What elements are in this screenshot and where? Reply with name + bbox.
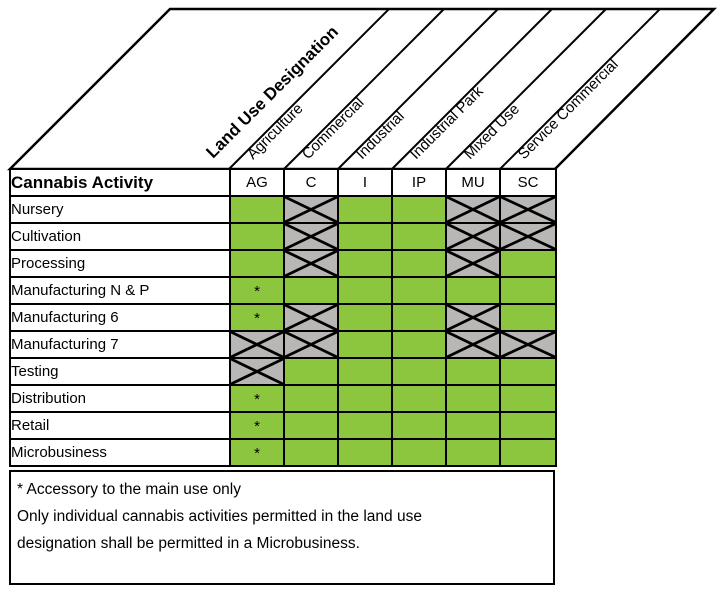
matrix-cell-testing-mu: [446, 358, 500, 385]
not-permitted-x-icon: [447, 305, 499, 330]
matrix-cell-manufacturing-7-sc: [500, 331, 556, 358]
accessory-use-asterisk: *: [254, 283, 260, 300]
matrix-cell-distribution-ip: [392, 385, 446, 412]
footnote-line-1: * Accessory to the main use only: [17, 478, 545, 502]
matrix-cell-microbusiness-ip: [392, 439, 446, 466]
table-row: Nursery: [10, 196, 556, 223]
matrix-cell-manufacturing-6-ip: [392, 304, 446, 331]
matrix-cell-processing-i: [338, 250, 392, 277]
matrix-cell-processing-ip: [392, 250, 446, 277]
matrix-cell-distribution-mu: [446, 385, 500, 412]
matrix-cell-microbusiness-c: [284, 439, 338, 466]
matrix-cell-retail-c: [284, 412, 338, 439]
matrix-cell-nursery-sc: [500, 196, 556, 223]
table-row: Manufacturing N & P*: [10, 277, 556, 304]
matrix-cell-testing-sc: [500, 358, 556, 385]
matrix-cell-processing-c: [284, 250, 338, 277]
matrix-cell-manufacturing-7-mu: [446, 331, 500, 358]
activity-label: Retail: [10, 412, 230, 439]
matrix-cell-nursery-i: [338, 196, 392, 223]
matrix-cell-retail-sc: [500, 412, 556, 439]
matrix-cell-distribution-sc: [500, 385, 556, 412]
not-permitted-x-icon: [447, 251, 499, 276]
not-permitted-x-icon: [285, 224, 337, 249]
matrix-cell-retail-i: [338, 412, 392, 439]
accessory-use-asterisk: *: [254, 445, 260, 462]
matrix-cell-microbusiness-sc: [500, 439, 556, 466]
matrix-cell-testing-ip: [392, 358, 446, 385]
matrix-cell-manufacturing-7-c: [284, 331, 338, 358]
activity-label: Manufacturing 7: [10, 331, 230, 358]
matrix-cell-nursery-c: [284, 196, 338, 223]
header-code-i: I: [338, 169, 392, 196]
matrix-cell-distribution-c: [284, 385, 338, 412]
not-permitted-x-icon: [285, 197, 337, 222]
not-permitted-x-icon: [501, 197, 555, 222]
matrix-cell-distribution-i: [338, 385, 392, 412]
matrix-cell-nursery-mu: [446, 196, 500, 223]
activity-label: Manufacturing N & P: [10, 277, 230, 304]
not-permitted-x-icon: [231, 359, 283, 384]
matrix-cell-retail-ip: [392, 412, 446, 439]
activity-label: Manufacturing 6: [10, 304, 230, 331]
activity-label: Processing: [10, 250, 230, 277]
activity-label: Distribution: [10, 385, 230, 412]
matrix-body: NurseryCultivationProcessingManufacturin…: [10, 196, 556, 466]
header-cannabis-activity: Cannabis Activity: [10, 169, 230, 196]
matrix-cell-manufacturing-6-i: [338, 304, 392, 331]
diagonal-header-banner: Land Use Designation Agriculture Commerc…: [0, 0, 721, 176]
matrix-cell-manufacturing-n-p-ip: [392, 277, 446, 304]
matrix-cell-manufacturing-6-c: [284, 304, 338, 331]
matrix-cell-testing-ag: [230, 358, 284, 385]
table-row: Microbusiness*: [10, 439, 556, 466]
matrix-cell-testing-i: [338, 358, 392, 385]
not-permitted-x-icon: [501, 224, 555, 249]
matrix-cell-manufacturing-7-ip: [392, 331, 446, 358]
accessory-use-asterisk: *: [254, 310, 260, 327]
table-row: Testing: [10, 358, 556, 385]
table-header-row: Cannabis Activity AG C I IP MU SC: [10, 169, 556, 196]
matrix-cell-cultivation-ip: [392, 223, 446, 250]
matrix-cell-manufacturing-n-p-c: [284, 277, 338, 304]
not-permitted-x-icon: [285, 332, 337, 357]
table-row: Distribution*: [10, 385, 556, 412]
matrix-cell-processing-ag: [230, 250, 284, 277]
matrix-cell-cultivation-i: [338, 223, 392, 250]
header-code-ip: IP: [392, 169, 446, 196]
matrix-cell-processing-sc: [500, 250, 556, 277]
matrix-cell-manufacturing-7-i: [338, 331, 392, 358]
not-permitted-x-icon: [447, 332, 499, 357]
accessory-use-asterisk: *: [254, 391, 260, 408]
not-permitted-x-icon: [447, 197, 499, 222]
matrix-cell-microbusiness-mu: [446, 439, 500, 466]
matrix-cell-manufacturing-6-sc: [500, 304, 556, 331]
not-permitted-x-icon: [231, 332, 283, 357]
matrix-cell-nursery-ag: [230, 196, 284, 223]
matrix-cell-manufacturing-n-p-ag: *: [230, 277, 284, 304]
not-permitted-x-icon: [285, 305, 337, 330]
activity-label: Nursery: [10, 196, 230, 223]
matrix-cell-cultivation-sc: [500, 223, 556, 250]
header-code-ag: AG: [230, 169, 284, 196]
footnote-line-3: designation shall be permitted in a Micr…: [17, 532, 545, 556]
legend-footnote-box: * Accessory to the main use only Only in…: [9, 470, 555, 585]
matrix-cell-manufacturing-n-p-mu: [446, 277, 500, 304]
matrix-cell-nursery-ip: [392, 196, 446, 223]
table-row: Cultivation: [10, 223, 556, 250]
matrix-cell-microbusiness-ag: *: [230, 439, 284, 466]
activity-label: Testing: [10, 358, 230, 385]
land-use-matrix-table: Cannabis Activity AG C I IP MU SC Nurser…: [9, 168, 557, 467]
table-row: Retail*: [10, 412, 556, 439]
header-code-mu: MU: [446, 169, 500, 196]
matrix-cell-manufacturing-n-p-sc: [500, 277, 556, 304]
not-permitted-x-icon: [285, 251, 337, 276]
header-code-c: C: [284, 169, 338, 196]
cannabis-land-use-matrix: Land Use Designation Agriculture Commerc…: [0, 0, 721, 600]
matrix-cell-retail-mu: [446, 412, 500, 439]
accessory-use-asterisk: *: [254, 418, 260, 435]
not-permitted-x-icon: [447, 224, 499, 249]
matrix-cell-testing-c: [284, 358, 338, 385]
activity-label: Microbusiness: [10, 439, 230, 466]
matrix-cell-microbusiness-i: [338, 439, 392, 466]
table-row: Manufacturing 7: [10, 331, 556, 358]
matrix-cell-distribution-ag: *: [230, 385, 284, 412]
activity-label: Cultivation: [10, 223, 230, 250]
matrix-cell-processing-mu: [446, 250, 500, 277]
footnote-line-2: Only individual cannabis activities perm…: [17, 505, 545, 529]
matrix-cell-manufacturing-6-ag: *: [230, 304, 284, 331]
matrix-cell-cultivation-ag: [230, 223, 284, 250]
table-row: Processing: [10, 250, 556, 277]
table-row: Manufacturing 6*: [10, 304, 556, 331]
matrix-cell-cultivation-c: [284, 223, 338, 250]
matrix-cell-manufacturing-6-mu: [446, 304, 500, 331]
matrix-cell-manufacturing-n-p-i: [338, 277, 392, 304]
matrix-cell-cultivation-mu: [446, 223, 500, 250]
matrix-cell-retail-ag: *: [230, 412, 284, 439]
header-code-sc: SC: [500, 169, 556, 196]
matrix-cell-manufacturing-7-ag: [230, 331, 284, 358]
not-permitted-x-icon: [501, 332, 555, 357]
